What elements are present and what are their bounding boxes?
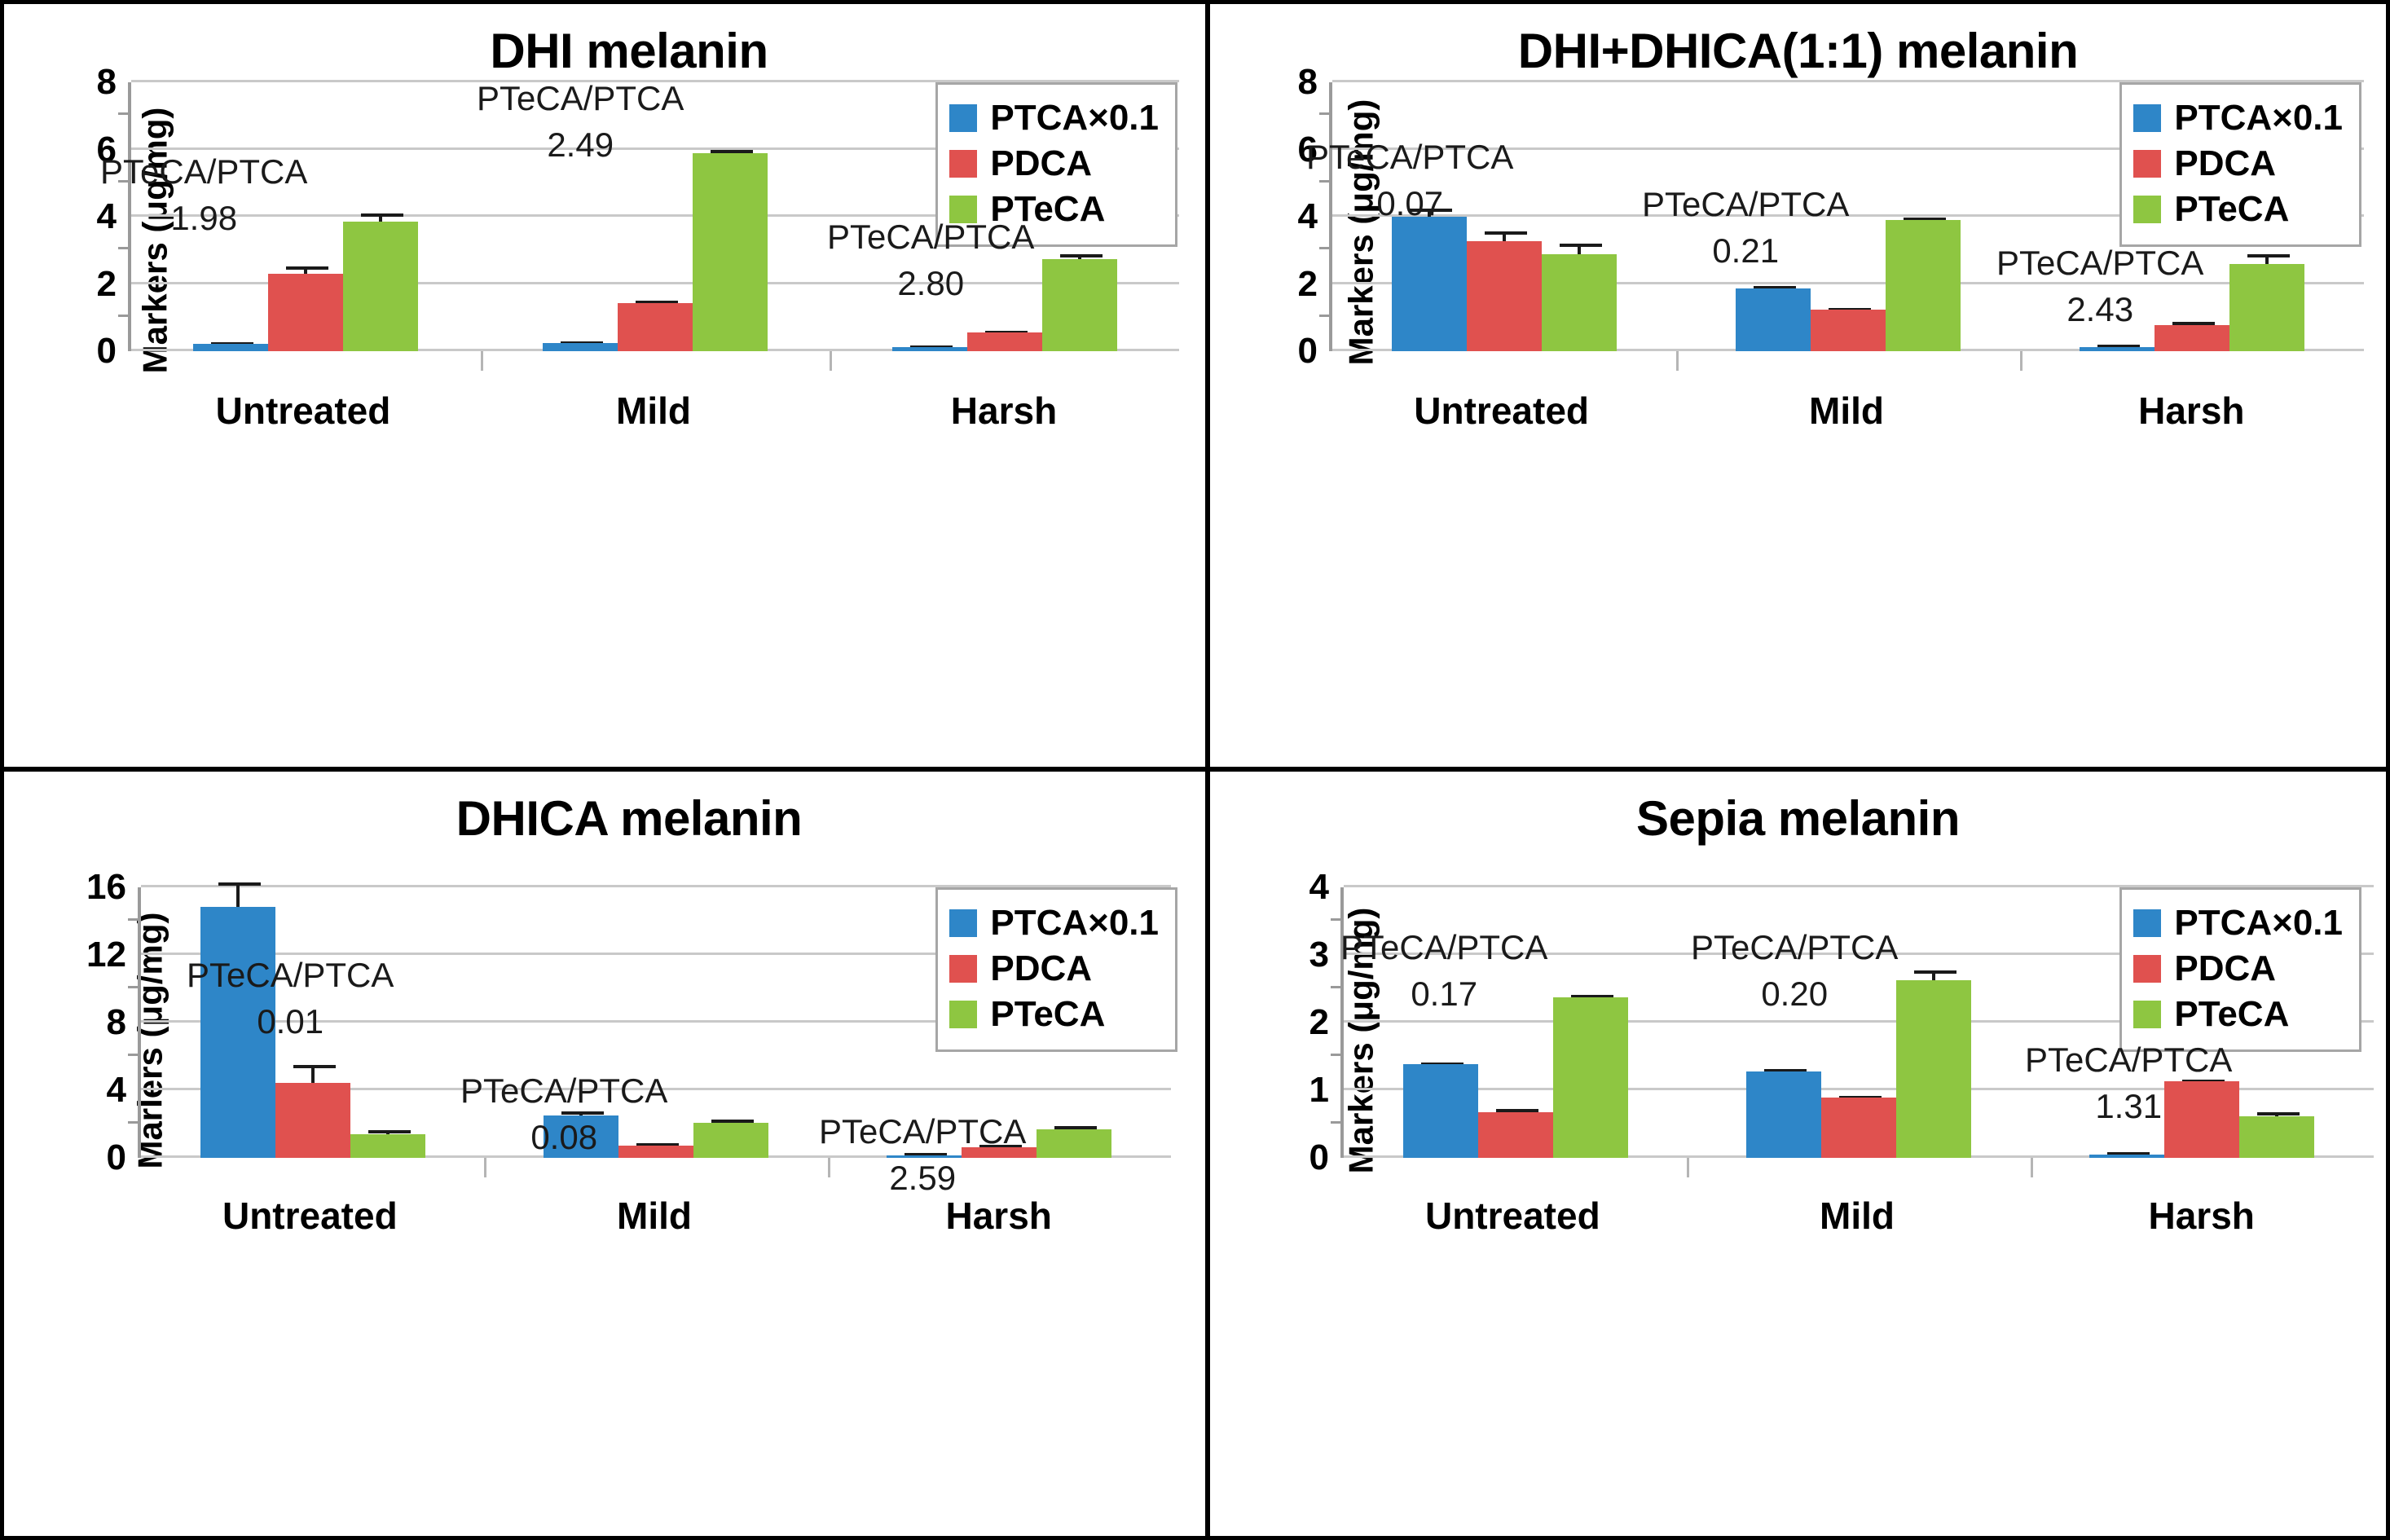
legend: PTCA×0.1PDCAPTeCA	[935, 887, 1177, 1052]
y-tick-label: 3	[1309, 935, 1329, 975]
bar-slot	[1886, 82, 1961, 351]
bar-PDCA-mild[interactable]	[1811, 310, 1886, 351]
y-tick-label: 2	[1298, 264, 1318, 305]
bar-slot	[693, 887, 768, 1158]
y-tick-label: 0	[107, 1137, 126, 1178]
bar-PDCA-mild[interactable]	[1821, 1098, 1896, 1158]
y-minor-tick	[1331, 918, 1344, 921]
bar-PTeCA-mild[interactable]	[1896, 980, 1971, 1158]
y-minor-tick	[1331, 1121, 1344, 1124]
bar-PTCA01-untreated[interactable]	[193, 344, 268, 351]
bar-PTeCA-mild[interactable]	[1886, 220, 1961, 351]
x-tick-label-untreated: Untreated	[1329, 389, 1674, 433]
bar-PTCA01-untreated[interactable]	[1403, 1064, 1478, 1158]
legend-label: PTeCA	[2174, 189, 2289, 230]
panel-dhica-melanin: DHICA melanin Marlers (μg/mg) 0481216 Un…	[0, 769, 1208, 1540]
legend-label: PDCA	[990, 143, 1092, 184]
legend-label: PDCA	[2174, 948, 2276, 989]
legend-swatch-icon	[2133, 150, 2161, 178]
legend-swatch-icon	[949, 1001, 977, 1028]
legend-item-PTCA01[interactable]: PTCA×0.1	[2133, 903, 2343, 944]
bar-PTCA01-harsh[interactable]	[892, 347, 967, 351]
legend-label: PTeCA	[990, 994, 1105, 1035]
y-minor-tick	[118, 247, 131, 249]
legend-swatch-icon	[2133, 1001, 2161, 1028]
bar-slot	[1553, 887, 1628, 1158]
four-panel-bar-figure: DHI melanin Markers (μg/mg) 02468 Untrea…	[0, 0, 2390, 1540]
bar-PTeCA-harsh[interactable]	[1042, 259, 1117, 351]
y-tick-label: 12	[86, 935, 126, 975]
legend-item-PDCA[interactable]: PDCA	[2133, 948, 2343, 989]
y-minor-tick	[128, 986, 141, 988]
legend-swatch-icon	[949, 909, 977, 937]
y-tick-label: 8	[1298, 62, 1318, 103]
bar-PDCA-harsh[interactable]	[967, 332, 1042, 351]
legend-item-PTeCA[interactable]: PTeCA	[2133, 994, 2343, 1035]
bar-PTeCA-untreated[interactable]	[1542, 254, 1617, 351]
x-tick-label-untreated: Untreated	[128, 389, 478, 433]
legend-item-PTCA01[interactable]: PTCA×0.1	[949, 98, 1159, 139]
legend-label: PDCA	[990, 948, 1092, 989]
bar-PDCA-untreated[interactable]	[1478, 1112, 1553, 1158]
x-tick-label-untreated: Untreated	[1340, 1194, 1685, 1238]
legend-swatch-icon	[949, 104, 977, 132]
legend-label: PTCA×0.1	[990, 903, 1159, 944]
panel-dhi-dhica-melanin: DHI+DHICA(1:1) melanin Markers (μg/mg) 0…	[1208, 0, 2390, 769]
y-minor-tick	[1319, 315, 1332, 317]
y-tick-label: 16	[86, 867, 126, 908]
annotation-harsh: PTeCA/PTCA 2.43	[1996, 240, 2203, 332]
bar-PTCA01-mild[interactable]	[1746, 1071, 1821, 1158]
panel-title: Sepia melanin	[1210, 793, 2386, 844]
x-tick-label-mild: Mild	[1674, 389, 2018, 433]
x-tick-label-mild: Mild	[478, 389, 829, 433]
y-minor-tick	[1319, 247, 1332, 249]
annotation-untreated: PTeCA/PTCA 0.01	[187, 953, 394, 1045]
annotation-untreated: PTeCA/PTCA 0.17	[1340, 925, 1547, 1017]
legend: PTCA×0.1PDCAPTeCA	[2119, 887, 2361, 1052]
y-tick-label: 0	[1298, 331, 1318, 372]
bar-PTeCA-harsh[interactable]	[2229, 264, 2304, 351]
bar-slot	[343, 82, 418, 351]
y-tick-label: 2	[97, 264, 117, 305]
y-minor-tick	[128, 1054, 141, 1056]
y-minor-tick	[128, 1121, 141, 1124]
x-tick-label-untreated: Untreated	[138, 1194, 482, 1238]
legend: PTCA×0.1PDCAPTeCA	[2119, 82, 2361, 247]
annotation-harsh: PTeCA/PTCA 2.80	[827, 214, 1034, 306]
y-tick-label: 1	[1309, 1070, 1329, 1111]
legend-label: PTeCA	[2174, 994, 2289, 1035]
legend-item-PDCA[interactable]: PDCA	[949, 143, 1159, 184]
bar-slot	[693, 82, 768, 351]
x-axis-labels: UntreatedMildHarsh	[1329, 389, 2364, 433]
bar-PTeCA-harsh[interactable]	[1037, 1129, 1111, 1158]
y-minor-tick	[1331, 1054, 1344, 1056]
bar-PTeCA-untreated[interactable]	[1553, 997, 1628, 1158]
x-tick-label-harsh: Harsh	[2029, 1194, 2374, 1238]
legend-label: PTCA×0.1	[2174, 98, 2343, 139]
y-minor-tick	[1319, 112, 1332, 115]
bar-PTCA01-harsh[interactable]	[2080, 347, 2155, 351]
bar-PDCA-mild[interactable]	[618, 303, 693, 351]
bar-PTCA01-untreated[interactable]	[1392, 217, 1467, 351]
y-tick-label: 0	[97, 331, 117, 372]
legend-item-PTeCA[interactable]: PTeCA	[949, 994, 1159, 1035]
annotation-mild: PTeCA/PTCA 0.20	[1691, 925, 1898, 1017]
legend-item-PTCA01[interactable]: PTCA×0.1	[2133, 98, 2343, 139]
annotation-harsh: PTeCA/PTCA 1.31	[2025, 1037, 2232, 1129]
panel-dhi-melanin: DHI melanin Markers (μg/mg) 02468 Untrea…	[0, 0, 1208, 769]
legend-item-PDCA[interactable]: PDCA	[949, 948, 1159, 989]
bar-PTeCA-mild[interactable]	[693, 153, 768, 351]
bar-PTCA01-mild[interactable]	[543, 343, 618, 351]
legend-swatch-icon	[949, 955, 977, 983]
bar-PTeCA-mild[interactable]	[693, 1123, 768, 1158]
y-minor-tick	[118, 112, 131, 115]
panel-title: DHICA melanin	[4, 793, 1205, 844]
legend-label: PTCA×0.1	[990, 98, 1159, 139]
y-tick-label: 4	[107, 1070, 126, 1111]
panel-title: DHI melanin	[4, 25, 1205, 77]
x-axis-labels: UntreatedMildHarsh	[128, 389, 1179, 433]
x-tick-label-harsh: Harsh	[2019, 389, 2364, 433]
panel-sepia-melanin: Sepia melanin Markers (μg/mg) 01234 Untr…	[1208, 769, 2390, 1540]
annotation-untreated: PTeCA/PTCA 1.98	[100, 149, 307, 241]
x-tick-label-harsh: Harsh	[829, 389, 1179, 433]
bar-PDCA-untreated[interactable]	[1467, 241, 1542, 351]
bar-PDCA-untreated[interactable]	[275, 1083, 350, 1158]
y-minor-tick	[128, 918, 141, 921]
x-tick-label-mild: Mild	[1685, 1194, 2030, 1238]
bar-PDCA-untreated[interactable]	[268, 274, 343, 351]
legend-swatch-icon	[2133, 955, 2161, 983]
annotation-mild: PTeCA/PTCA 0.08	[460, 1068, 667, 1160]
annotation-mild: PTeCA/PTCA 0.21	[1642, 182, 1849, 274]
legend-swatch-icon	[2133, 196, 2161, 223]
x-axis-labels: UntreatedMildHarsh	[1340, 1194, 2374, 1238]
legend-item-PDCA[interactable]: PDCA	[2133, 143, 2343, 184]
legend-label: PDCA	[2174, 143, 2276, 184]
bar-PTeCA-untreated[interactable]	[350, 1134, 425, 1158]
bar-PTCA01-mild[interactable]	[1736, 288, 1811, 351]
bar-PTeCA-harsh[interactable]	[2239, 1116, 2314, 1158]
y-minor-tick	[118, 315, 131, 317]
x-tick-label-mild: Mild	[482, 1194, 827, 1238]
y-tick-label: 8	[97, 62, 117, 103]
legend-swatch-icon	[2133, 909, 2161, 937]
y-tick-label: 2	[1309, 1002, 1329, 1043]
y-tick-label: 4	[1309, 867, 1329, 908]
y-tick-label: 0	[1309, 1137, 1329, 1178]
legend-swatch-icon	[949, 150, 977, 178]
legend-item-PTeCA[interactable]: PTeCA	[2133, 189, 2343, 230]
annotation-untreated: PTeCA/PTCA 0.07	[1306, 134, 1513, 227]
bar-PTeCA-untreated[interactable]	[343, 222, 418, 351]
legend-label: PTCA×0.1	[2174, 903, 2343, 944]
y-tick-label: 8	[107, 1002, 126, 1043]
legend-item-PTCA01[interactable]: PTCA×0.1	[949, 903, 1159, 944]
annotation-harsh: PTeCA/PTCA 2.59	[819, 1109, 1026, 1201]
legend-swatch-icon	[2133, 104, 2161, 132]
bar-PTCA01-harsh[interactable]	[2089, 1155, 2164, 1158]
bar-slot	[1896, 887, 1971, 1158]
panel-title: DHI+DHICA(1:1) melanin	[1210, 25, 2386, 77]
bar-slot	[1542, 82, 1617, 351]
annotation-mild: PTeCA/PTCA 2.49	[477, 76, 684, 168]
